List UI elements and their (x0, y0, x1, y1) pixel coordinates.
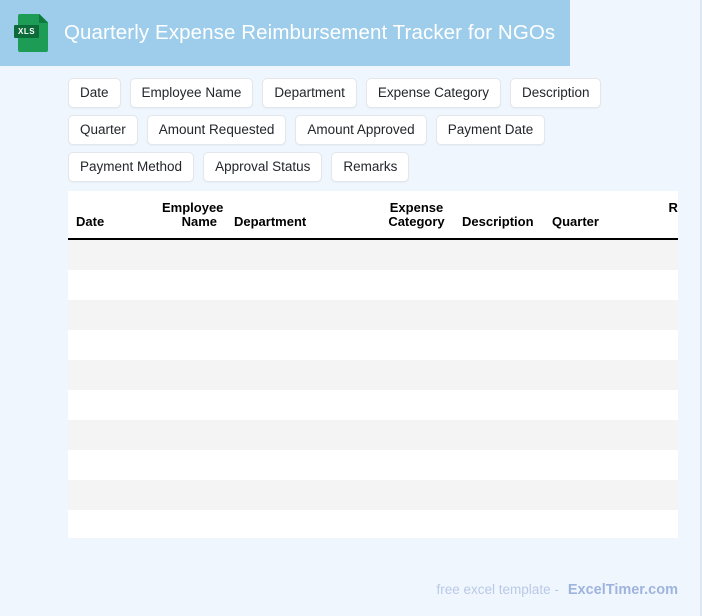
table-cell[interactable] (544, 510, 654, 538)
table-cell[interactable] (544, 300, 654, 330)
table-cell[interactable] (544, 480, 654, 510)
table-cell[interactable] (154, 330, 226, 360)
title-band: XLS Quarterly Expense Reimbursement Trac… (0, 0, 570, 66)
table-row[interactable] (68, 300, 678, 330)
table-cell[interactable] (454, 480, 544, 510)
table-cell[interactable] (154, 390, 226, 420)
spreadsheet-table: Date Employee Name Department Expense Ca… (68, 191, 678, 538)
table-row[interactable] (68, 360, 678, 390)
table-cell[interactable] (154, 480, 226, 510)
field-chip-description[interactable]: Description (510, 78, 602, 108)
table-cell[interactable] (226, 450, 380, 480)
column-header-requested-amount[interactable]: Requested Amount (654, 191, 678, 239)
table-cell[interactable] (654, 420, 678, 450)
table-cell[interactable] (154, 270, 226, 300)
table-cell[interactable] (68, 360, 154, 390)
table-cell[interactable] (544, 450, 654, 480)
table-cell[interactable] (454, 330, 544, 360)
table-cell[interactable] (226, 390, 380, 420)
table-cell[interactable] (68, 300, 154, 330)
table-cell[interactable] (454, 300, 544, 330)
table-cell[interactable] (380, 239, 454, 270)
column-header-department[interactable]: Department (226, 191, 380, 239)
table-cell[interactable] (68, 510, 154, 538)
table-cell[interactable] (654, 330, 678, 360)
table-cell[interactable] (544, 360, 654, 390)
table-cell[interactable] (380, 510, 454, 538)
table-cell[interactable] (654, 270, 678, 300)
table-cell[interactable] (154, 239, 226, 270)
table-cell[interactable] (454, 270, 544, 300)
field-chip-date[interactable]: Date (68, 78, 121, 108)
table-body (68, 239, 678, 538)
table-cell[interactable] (454, 450, 544, 480)
column-header-employee-name[interactable]: Employee Name (154, 191, 226, 239)
column-header-expense-category[interactable]: Expense Category (380, 191, 454, 239)
table-cell[interactable] (654, 239, 678, 270)
field-chip-approval-status[interactable]: Approval Status (203, 152, 322, 182)
field-chip-employee-name[interactable]: Employee Name (130, 78, 254, 108)
table-cell[interactable] (226, 360, 380, 390)
table-cell[interactable] (154, 300, 226, 330)
table-row[interactable] (68, 270, 678, 300)
table-cell[interactable] (544, 239, 654, 270)
table-cell[interactable] (654, 360, 678, 390)
table-cell[interactable] (68, 420, 154, 450)
column-header-description[interactable]: Description (454, 191, 544, 239)
page-root: XLS Quarterly Expense Reimbursement Trac… (0, 0, 702, 616)
field-chip-amount-approved[interactable]: Amount Approved (295, 115, 426, 145)
table-cell[interactable] (68, 450, 154, 480)
xls-file-icon: XLS (18, 14, 48, 52)
table-cell[interactable] (68, 330, 154, 360)
table-cell[interactable] (544, 390, 654, 420)
table-cell[interactable] (226, 270, 380, 300)
table-row[interactable] (68, 510, 678, 538)
table-cell[interactable] (68, 270, 154, 300)
table-cell[interactable] (654, 300, 678, 330)
field-chip-quarter[interactable]: Quarter (68, 115, 138, 145)
table-cell[interactable] (226, 480, 380, 510)
footer-free-text: free excel template - (437, 582, 559, 597)
page-title: Quarterly Expense Reimbursement Tracker … (64, 21, 555, 45)
footer-brand-link[interactable]: ExcelTimer.com (568, 582, 678, 598)
table-cell[interactable] (654, 480, 678, 510)
column-header-date[interactable]: Date (68, 191, 154, 239)
table-cell[interactable] (68, 480, 154, 510)
field-chip-payment-method[interactable]: Payment Method (68, 152, 194, 182)
table-cell[interactable] (154, 450, 226, 480)
table-header-row: Date Employee Name Department Expense Ca… (68, 191, 678, 239)
table-cell[interactable] (226, 330, 380, 360)
table-cell[interactable] (380, 300, 454, 330)
table-cell[interactable] (226, 420, 380, 450)
table-row[interactable] (68, 480, 678, 510)
table-header: Date Employee Name Department Expense Ca… (68, 191, 678, 239)
table-row[interactable] (68, 330, 678, 360)
table-cell[interactable] (654, 390, 678, 420)
table-cell[interactable] (380, 480, 454, 510)
footer-credit: free excel template - ExcelTimer.com (437, 582, 678, 598)
field-chip-remarks[interactable]: Remarks (331, 152, 409, 182)
field-chip-expense-category[interactable]: Expense Category (366, 78, 501, 108)
table-cell[interactable] (154, 420, 226, 450)
table-cell[interactable] (454, 360, 544, 390)
table-cell[interactable] (654, 510, 678, 538)
table-cell[interactable] (380, 270, 454, 300)
table-row[interactable] (68, 239, 678, 270)
table-cell[interactable] (654, 450, 678, 480)
table-row[interactable] (68, 390, 678, 420)
table-cell[interactable] (380, 450, 454, 480)
field-chip-payment-date[interactable]: Payment Date (436, 115, 546, 145)
table-cell[interactable] (454, 239, 544, 270)
table-cell[interactable] (380, 360, 454, 390)
table-row[interactable] (68, 420, 678, 450)
table-cell[interactable] (68, 239, 154, 270)
spreadsheet-table-viewport[interactable]: Date Employee Name Department Expense Ca… (68, 191, 678, 538)
table-cell[interactable] (454, 390, 544, 420)
table-cell[interactable] (454, 510, 544, 538)
field-chip-department[interactable]: Department (262, 78, 357, 108)
table-row[interactable] (68, 450, 678, 480)
table-cell[interactable] (544, 270, 654, 300)
table-cell[interactable] (380, 390, 454, 420)
field-chip-list: Date Employee Name Department Expense Ca… (68, 78, 668, 182)
table-cell[interactable] (154, 360, 226, 390)
table-cell[interactable] (226, 510, 380, 538)
xls-icon-badge-label: XLS (14, 25, 39, 38)
table-cell[interactable] (380, 330, 454, 360)
column-header-quarter[interactable]: Quarter (544, 191, 654, 239)
table-cell[interactable] (544, 330, 654, 360)
table-cell[interactable] (226, 300, 380, 330)
table-cell[interactable] (154, 510, 226, 538)
table-cell[interactable] (226, 239, 380, 270)
field-chip-amount-requested[interactable]: Amount Requested (147, 115, 287, 145)
table-cell[interactable] (544, 420, 654, 450)
table-cell[interactable] (380, 420, 454, 450)
table-cell[interactable] (68, 390, 154, 420)
table-cell[interactable] (454, 420, 544, 450)
